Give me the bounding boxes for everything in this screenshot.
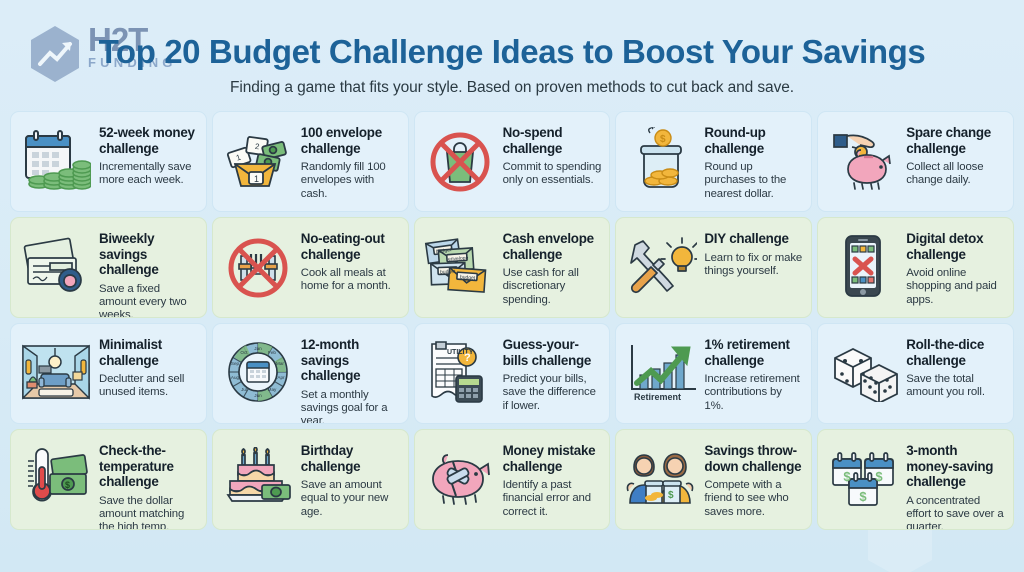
challenge-description: Cook all meals at home for a month. bbox=[301, 267, 400, 294]
challenge-text: Guess-your-bills challengePredict your b… bbox=[503, 333, 602, 413]
challenge-card[interactable]: No-spend challengeCommit to spending onl… bbox=[414, 111, 611, 212]
svg-text:?: ? bbox=[464, 352, 471, 364]
tidy-living-room-icon bbox=[19, 333, 93, 411]
challenge-text: Roll-the-dice challengeSave the total am… bbox=[906, 333, 1005, 400]
challenge-text: Spare change challengeCollect all loose … bbox=[906, 121, 1005, 188]
wrench-screwdriver-bulb-icon bbox=[624, 227, 698, 305]
svg-text:1: 1 bbox=[254, 174, 259, 184]
two-dice-icon bbox=[826, 333, 900, 411]
challenge-description: Set a monthly savings goal for a year. bbox=[301, 389, 400, 425]
challenge-text: No-eating-out challengeCook all meals at… bbox=[301, 227, 400, 294]
header: Top 20 Budget Challenge Ideas to Boost Y… bbox=[0, 0, 1024, 97]
challenge-card[interactable]: Spare change challengeCollect all loose … bbox=[817, 111, 1014, 212]
challenge-card[interactable]: UTILITY ? Guess-your-bills challengePred… bbox=[414, 323, 611, 424]
hand-coin-piggybank-icon bbox=[826, 121, 900, 199]
page-subtitle: Finding a game that fits your style. Bas… bbox=[0, 79, 1024, 97]
challenge-description: Declutter and sell unused items. bbox=[99, 373, 198, 400]
challenge-description: Randomly fill 100 envelopes with cash. bbox=[301, 161, 400, 201]
challenge-title: 1% retirement challenge bbox=[704, 337, 803, 368]
challenge-card[interactable]: No-eating-out challengeCook all meals at… bbox=[212, 217, 409, 318]
birthday-cake-cash-icon bbox=[221, 439, 295, 517]
challenge-card[interactable]: Digital detox challengeAvoid online shop… bbox=[817, 217, 1014, 318]
challenge-title: Roll-the-dice challenge bbox=[906, 337, 1005, 368]
challenge-description: Identify a past financial error and corr… bbox=[503, 479, 602, 519]
challenge-title: Round-up challenge bbox=[704, 125, 803, 156]
svg-text:Jan: Jan bbox=[254, 346, 262, 351]
svg-text:Mar: Mar bbox=[276, 361, 284, 366]
svg-text:$: $ bbox=[668, 490, 674, 501]
svg-text:$: $ bbox=[65, 480, 70, 490]
challenge-text: Digital detox challengeAvoid online shop… bbox=[906, 227, 1005, 307]
challenge-card[interactable]: Birthday challengeSave an amount equal t… bbox=[212, 429, 409, 530]
challenge-card[interactable]: Retirement 1% retirement challengeIncrea… bbox=[615, 323, 812, 424]
challenge-card[interactable]: JanFebMarApr MayJunJulAug SepOct 12-mont… bbox=[212, 323, 409, 424]
two-people-savings-jars-icon: $ bbox=[624, 439, 698, 517]
challenge-card[interactable]: $ Savings throw-down challengeCompete wi… bbox=[615, 429, 812, 530]
utility-bill-question-calculator-icon: UTILITY ? bbox=[423, 333, 497, 411]
challenge-title: No-spend challenge bbox=[503, 125, 602, 156]
envelopes-cash-icon: 1 2 1 bbox=[221, 121, 295, 199]
challenge-description: Round up purchases to the nearest dollar… bbox=[704, 161, 803, 201]
challenge-text: DIY challengeLearn to fix or make things… bbox=[704, 227, 803, 278]
challenge-card[interactable]: $ Round-up challengeRound up purchases t… bbox=[615, 111, 812, 212]
challenge-text: Birthday challengeSave an amount equal t… bbox=[301, 439, 400, 519]
challenge-description: Save a fixed amount every two weeks. bbox=[99, 283, 198, 319]
thermometer-cash-icon: $ bbox=[19, 439, 93, 517]
challenge-title: Guess-your-bills challenge bbox=[503, 337, 602, 368]
coin-jar-icon: $ bbox=[624, 121, 698, 199]
phone-x-icon bbox=[826, 227, 900, 305]
challenge-title: 12-month savings challenge bbox=[301, 337, 400, 384]
svg-text:May: May bbox=[267, 387, 276, 392]
challenge-card[interactable]: 52-week money challengeIncrementally sav… bbox=[10, 111, 207, 212]
challenge-title: Savings throw-down challenge bbox=[704, 443, 803, 474]
challenge-description: Avoid online shopping and paid apps. bbox=[906, 267, 1005, 307]
calendar-coin-stacks-icon bbox=[19, 121, 93, 199]
svg-text:$: $ bbox=[876, 469, 884, 484]
svg-text:$: $ bbox=[860, 489, 868, 504]
challenge-description: Collect all loose change daily. bbox=[906, 161, 1005, 188]
challenge-title: Spare change challenge bbox=[906, 125, 1005, 156]
challenge-text: 12-month savings challengeSet a monthly … bbox=[301, 333, 400, 424]
challenge-card-grid: 52-week money challengeIncrementally sav… bbox=[10, 111, 1014, 530]
challenge-title: Cash envelope challenge bbox=[503, 231, 602, 262]
page-title: Top 20 Budget Challenge Ideas to Boost Y… bbox=[0, 32, 1024, 72]
svg-text:$: $ bbox=[660, 134, 666, 145]
challenge-description: Learn to fix or make things yourself. bbox=[704, 252, 803, 279]
challenge-text: 3-month money-saving challengeA concentr… bbox=[906, 439, 1005, 530]
challenge-description: Use cash for all discretionary spending. bbox=[503, 267, 602, 307]
challenge-text: Biweekly savings challengeSave a fixed a… bbox=[99, 227, 198, 318]
svg-text:Jun: Jun bbox=[254, 393, 262, 398]
challenge-card[interactable]: $$$ 3-month money-saving challengeA conc… bbox=[817, 429, 1014, 530]
challenge-description: Incrementally save more each week. bbox=[99, 161, 198, 188]
svg-text:Aug: Aug bbox=[231, 375, 240, 380]
labeled-envelopes-icon: budget envelope budget budget bbox=[423, 227, 497, 305]
svg-text:Retirement: Retirement bbox=[634, 392, 681, 402]
challenge-title: Minimalist challenge bbox=[99, 337, 198, 368]
challenge-title: Check-the-temperature challenge bbox=[99, 443, 198, 490]
cracked-piggybank-bandaid-icon bbox=[423, 439, 497, 517]
three-dollar-calendars-icon: $$$ bbox=[826, 439, 900, 517]
infographic-page: H2T FUNDING Top 20 Budget Challenge Idea… bbox=[0, 0, 1024, 572]
challenge-description: Save an amount equal to your new age. bbox=[301, 479, 400, 519]
challenge-text: Round-up challengeRound up purchases to … bbox=[704, 121, 803, 201]
no-shopping-bag-icon bbox=[423, 121, 497, 199]
svg-text:budget: budget bbox=[459, 274, 475, 281]
challenge-title: 100 envelope challenge bbox=[301, 125, 400, 156]
no-restaurant-icon bbox=[221, 227, 295, 305]
challenge-title: Birthday challenge bbox=[301, 443, 400, 474]
challenge-description: Increase retirement contributions by 1%. bbox=[704, 373, 803, 413]
checks-piggy-badge-icon bbox=[19, 227, 93, 305]
challenge-card[interactable]: $ Check-the-temperature challengeSave th… bbox=[10, 429, 207, 530]
challenge-description: A concentrated effort to save over a qua… bbox=[906, 495, 1005, 531]
svg-text:Jul: Jul bbox=[241, 387, 247, 392]
challenge-description: Predict your bills, save the difference … bbox=[503, 373, 602, 413]
svg-text:Sep: Sep bbox=[231, 361, 240, 366]
challenge-text: Savings throw-down challengeCompete with… bbox=[704, 439, 803, 519]
retirement-growth-chart-icon: Retirement bbox=[624, 333, 698, 411]
challenge-text: 1% retirement challengeIncrease retireme… bbox=[704, 333, 803, 413]
challenge-description: Save the total amount you roll. bbox=[906, 373, 1005, 400]
challenge-text: Check-the-temperature challengeSave the … bbox=[99, 439, 198, 530]
challenge-text: 52-week money challengeIncrementally sav… bbox=[99, 121, 198, 188]
challenge-title: Biweekly savings challenge bbox=[99, 231, 198, 278]
challenge-card[interactable]: Roll-the-dice challengeSave the total am… bbox=[817, 323, 1014, 424]
challenge-title: Money mistake challenge bbox=[503, 443, 602, 474]
svg-text:$: $ bbox=[844, 469, 852, 484]
svg-text:budget: budget bbox=[440, 269, 456, 276]
challenge-text: Minimalist challengeDeclutter and sell u… bbox=[99, 333, 198, 400]
challenge-text: 100 envelope challengeRandomly fill 100 … bbox=[301, 121, 400, 201]
challenge-title: No-eating-out challenge bbox=[301, 231, 400, 262]
challenge-text: Money mistake challengeIdentify a past f… bbox=[503, 439, 602, 519]
challenge-card[interactable]: DIY challengeLearn to fix or make things… bbox=[615, 217, 812, 318]
challenge-card[interactable]: 1 2 1 100 envelope challengeRandomly fil… bbox=[212, 111, 409, 212]
challenge-card[interactable]: Money mistake challengeIdentify a past f… bbox=[414, 429, 611, 530]
svg-text:Apr: Apr bbox=[277, 375, 285, 380]
svg-text:Oct: Oct bbox=[240, 350, 248, 355]
svg-text:Feb: Feb bbox=[268, 350, 276, 355]
challenge-text: Cash envelope challengeUse cash for all … bbox=[503, 227, 602, 307]
challenge-title: 3-month money-saving challenge bbox=[906, 443, 1005, 490]
challenge-description: Commit to spending only on essentials. bbox=[503, 161, 602, 188]
challenge-card[interactable]: Minimalist challengeDeclutter and sell u… bbox=[10, 323, 207, 424]
month-wheel-calendar-icon: JanFebMarApr MayJunJulAug SepOct bbox=[221, 333, 295, 411]
challenge-card[interactable]: Biweekly savings challengeSave a fixed a… bbox=[10, 217, 207, 318]
challenge-title: Digital detox challenge bbox=[906, 231, 1005, 262]
challenge-title: DIY challenge bbox=[704, 231, 803, 247]
challenge-title: 52-week money challenge bbox=[99, 125, 198, 156]
challenge-text: No-spend challengeCommit to spending onl… bbox=[503, 121, 602, 188]
challenge-card[interactable]: budget envelope budget budget Cash envel… bbox=[414, 217, 611, 318]
challenge-description: Compete with a friend to see who saves m… bbox=[704, 479, 803, 519]
challenge-description: Save the dollar amount matching the high… bbox=[99, 495, 198, 531]
